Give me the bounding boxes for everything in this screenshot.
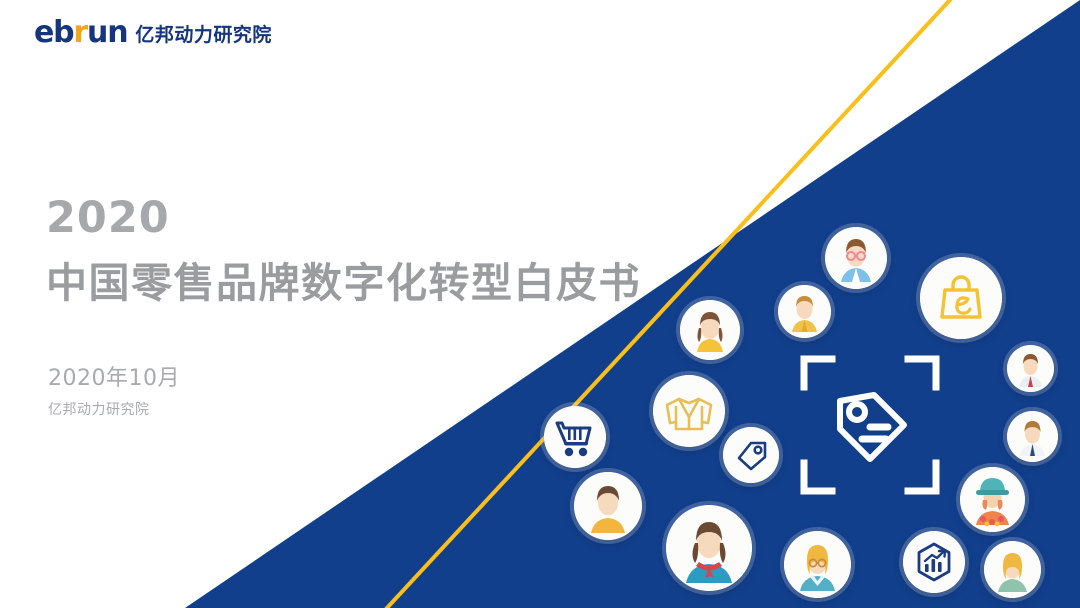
subtitle-block: 2020年10月 亿邦动力研究院 xyxy=(48,360,180,419)
price-tag-scan-icon xyxy=(800,355,940,495)
jacket-clothing-icon xyxy=(653,375,725,447)
logo-word-b: un xyxy=(87,15,127,50)
avatar-man-bucket-hat-icon xyxy=(960,467,1025,532)
avatar-woman-red-scarf-icon xyxy=(666,505,752,591)
avatar-woman-brown-hair-icon xyxy=(680,300,740,360)
logo-wordmark: ebrun xyxy=(34,18,127,48)
publisher-name: 亿邦动力研究院 xyxy=(48,399,180,419)
avatar-man-glasses-icon xyxy=(825,227,887,289)
avatar-boy-yellow-shirt-icon xyxy=(574,472,642,540)
shopping-cart-icon xyxy=(544,406,606,468)
ebrun-logo: ebrun 亿邦动力研究院 xyxy=(34,18,272,48)
price-tag-small-icon xyxy=(723,427,779,483)
logo-chinese-name: 亿邦动力研究院 xyxy=(135,20,272,47)
avatar-man-yellow-shirt-icon xyxy=(778,285,831,338)
publish-date: 2020年10月 xyxy=(48,360,180,392)
presentation-cover-slide: ebrun 亿邦动力研究院 2020 中国零售品牌数字化转型白皮书 2020年1… xyxy=(0,0,1080,608)
retail-illustration xyxy=(520,215,1080,608)
avatar-man-tie-small-icon xyxy=(1007,345,1054,392)
analytics-hexagon-icon xyxy=(903,531,965,593)
avatar-man-tie-small2-icon xyxy=(1007,411,1058,462)
logo-word-highlight: r xyxy=(73,15,87,50)
avatar-woman-glasses-icon xyxy=(784,531,851,598)
avatar-woman-blonde-icon xyxy=(984,541,1041,598)
shopping-bag-e-logo-icon xyxy=(920,257,1002,339)
logo-word-a: eb xyxy=(34,15,73,50)
